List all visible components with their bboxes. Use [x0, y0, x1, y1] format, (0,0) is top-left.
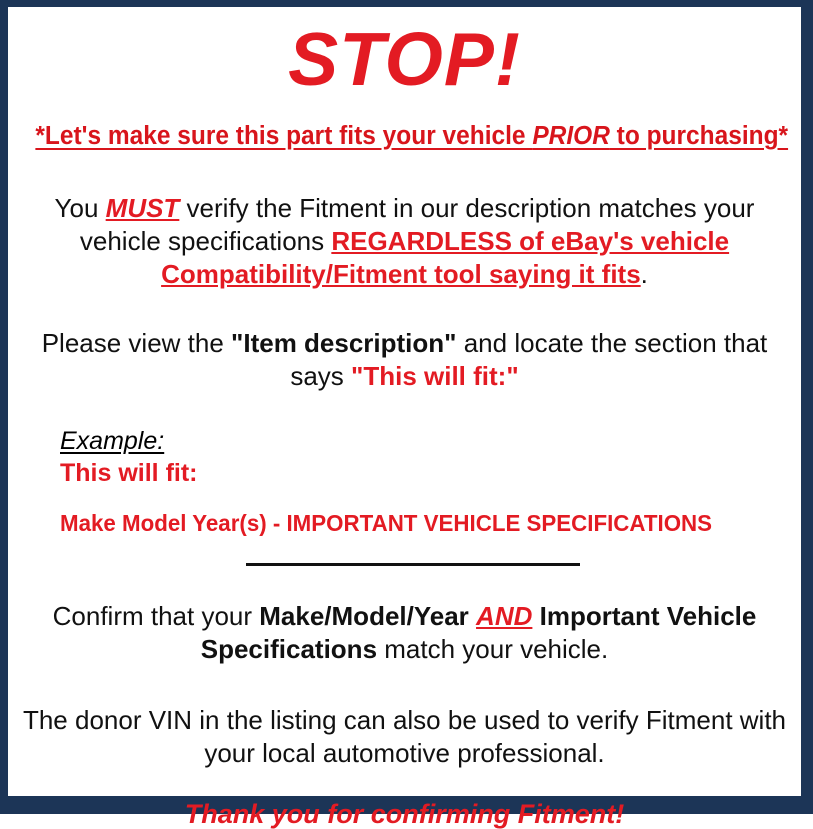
confirm-space-b [532, 601, 539, 631]
page-title: STOP! [20, 7, 789, 98]
subtitle-suffix: to purchasing* [610, 122, 788, 150]
must-verify-paragraph: You MUST verify the Fitment in our descr… [20, 150, 789, 291]
donor-vin-paragraph: The donor VIN in the listing can also be… [20, 666, 789, 770]
notice-content: STOP! *Let's make sure this part fits yo… [8, 7, 801, 796]
confirm-part1: Confirm that your [53, 601, 260, 631]
this-will-fit-quote: "This will fit:" [351, 361, 519, 391]
subtitle-prefix: *Let's make sure this part fits your veh… [35, 122, 532, 150]
must-paragraph-period: . [641, 259, 648, 289]
separator-wrapper [20, 537, 789, 566]
confirm-space-a [469, 601, 476, 631]
item-description-paragraph: Please view the "Item description" and l… [20, 291, 789, 393]
must-paragraph-part1: You [55, 193, 106, 223]
confirm-paragraph: Confirm that your Make/Model/Year AND Im… [20, 566, 789, 666]
example-spec-line: Make Model Year(s) - IMPORTANT VEHICLE S… [60, 488, 767, 537]
subtitle-emphasis-prior: PRIOR [532, 122, 610, 150]
confirm-part2: match your vehicle. [377, 634, 608, 664]
example-fit-heading: This will fit: [60, 456, 789, 488]
example-block: Example: This will fit: Make Model Year(… [20, 393, 789, 537]
must-keyword: MUST [106, 193, 180, 223]
fitment-notice-card: STOP! *Let's make sure this part fits yo… [0, 0, 813, 814]
and-keyword: AND [476, 601, 532, 631]
subtitle-banner: *Let's make sure this part fits your veh… [35, 98, 773, 150]
item-description-quote: "Item description" [231, 328, 456, 358]
thank-you-line: Thank you for confirming Fitment! [20, 770, 789, 829]
make-model-year-keyword: Make/Model/Year [259, 601, 469, 631]
item-description-part1: Please view the [42, 328, 231, 358]
example-label: Example: [60, 427, 164, 456]
horizontal-rule [246, 563, 580, 566]
